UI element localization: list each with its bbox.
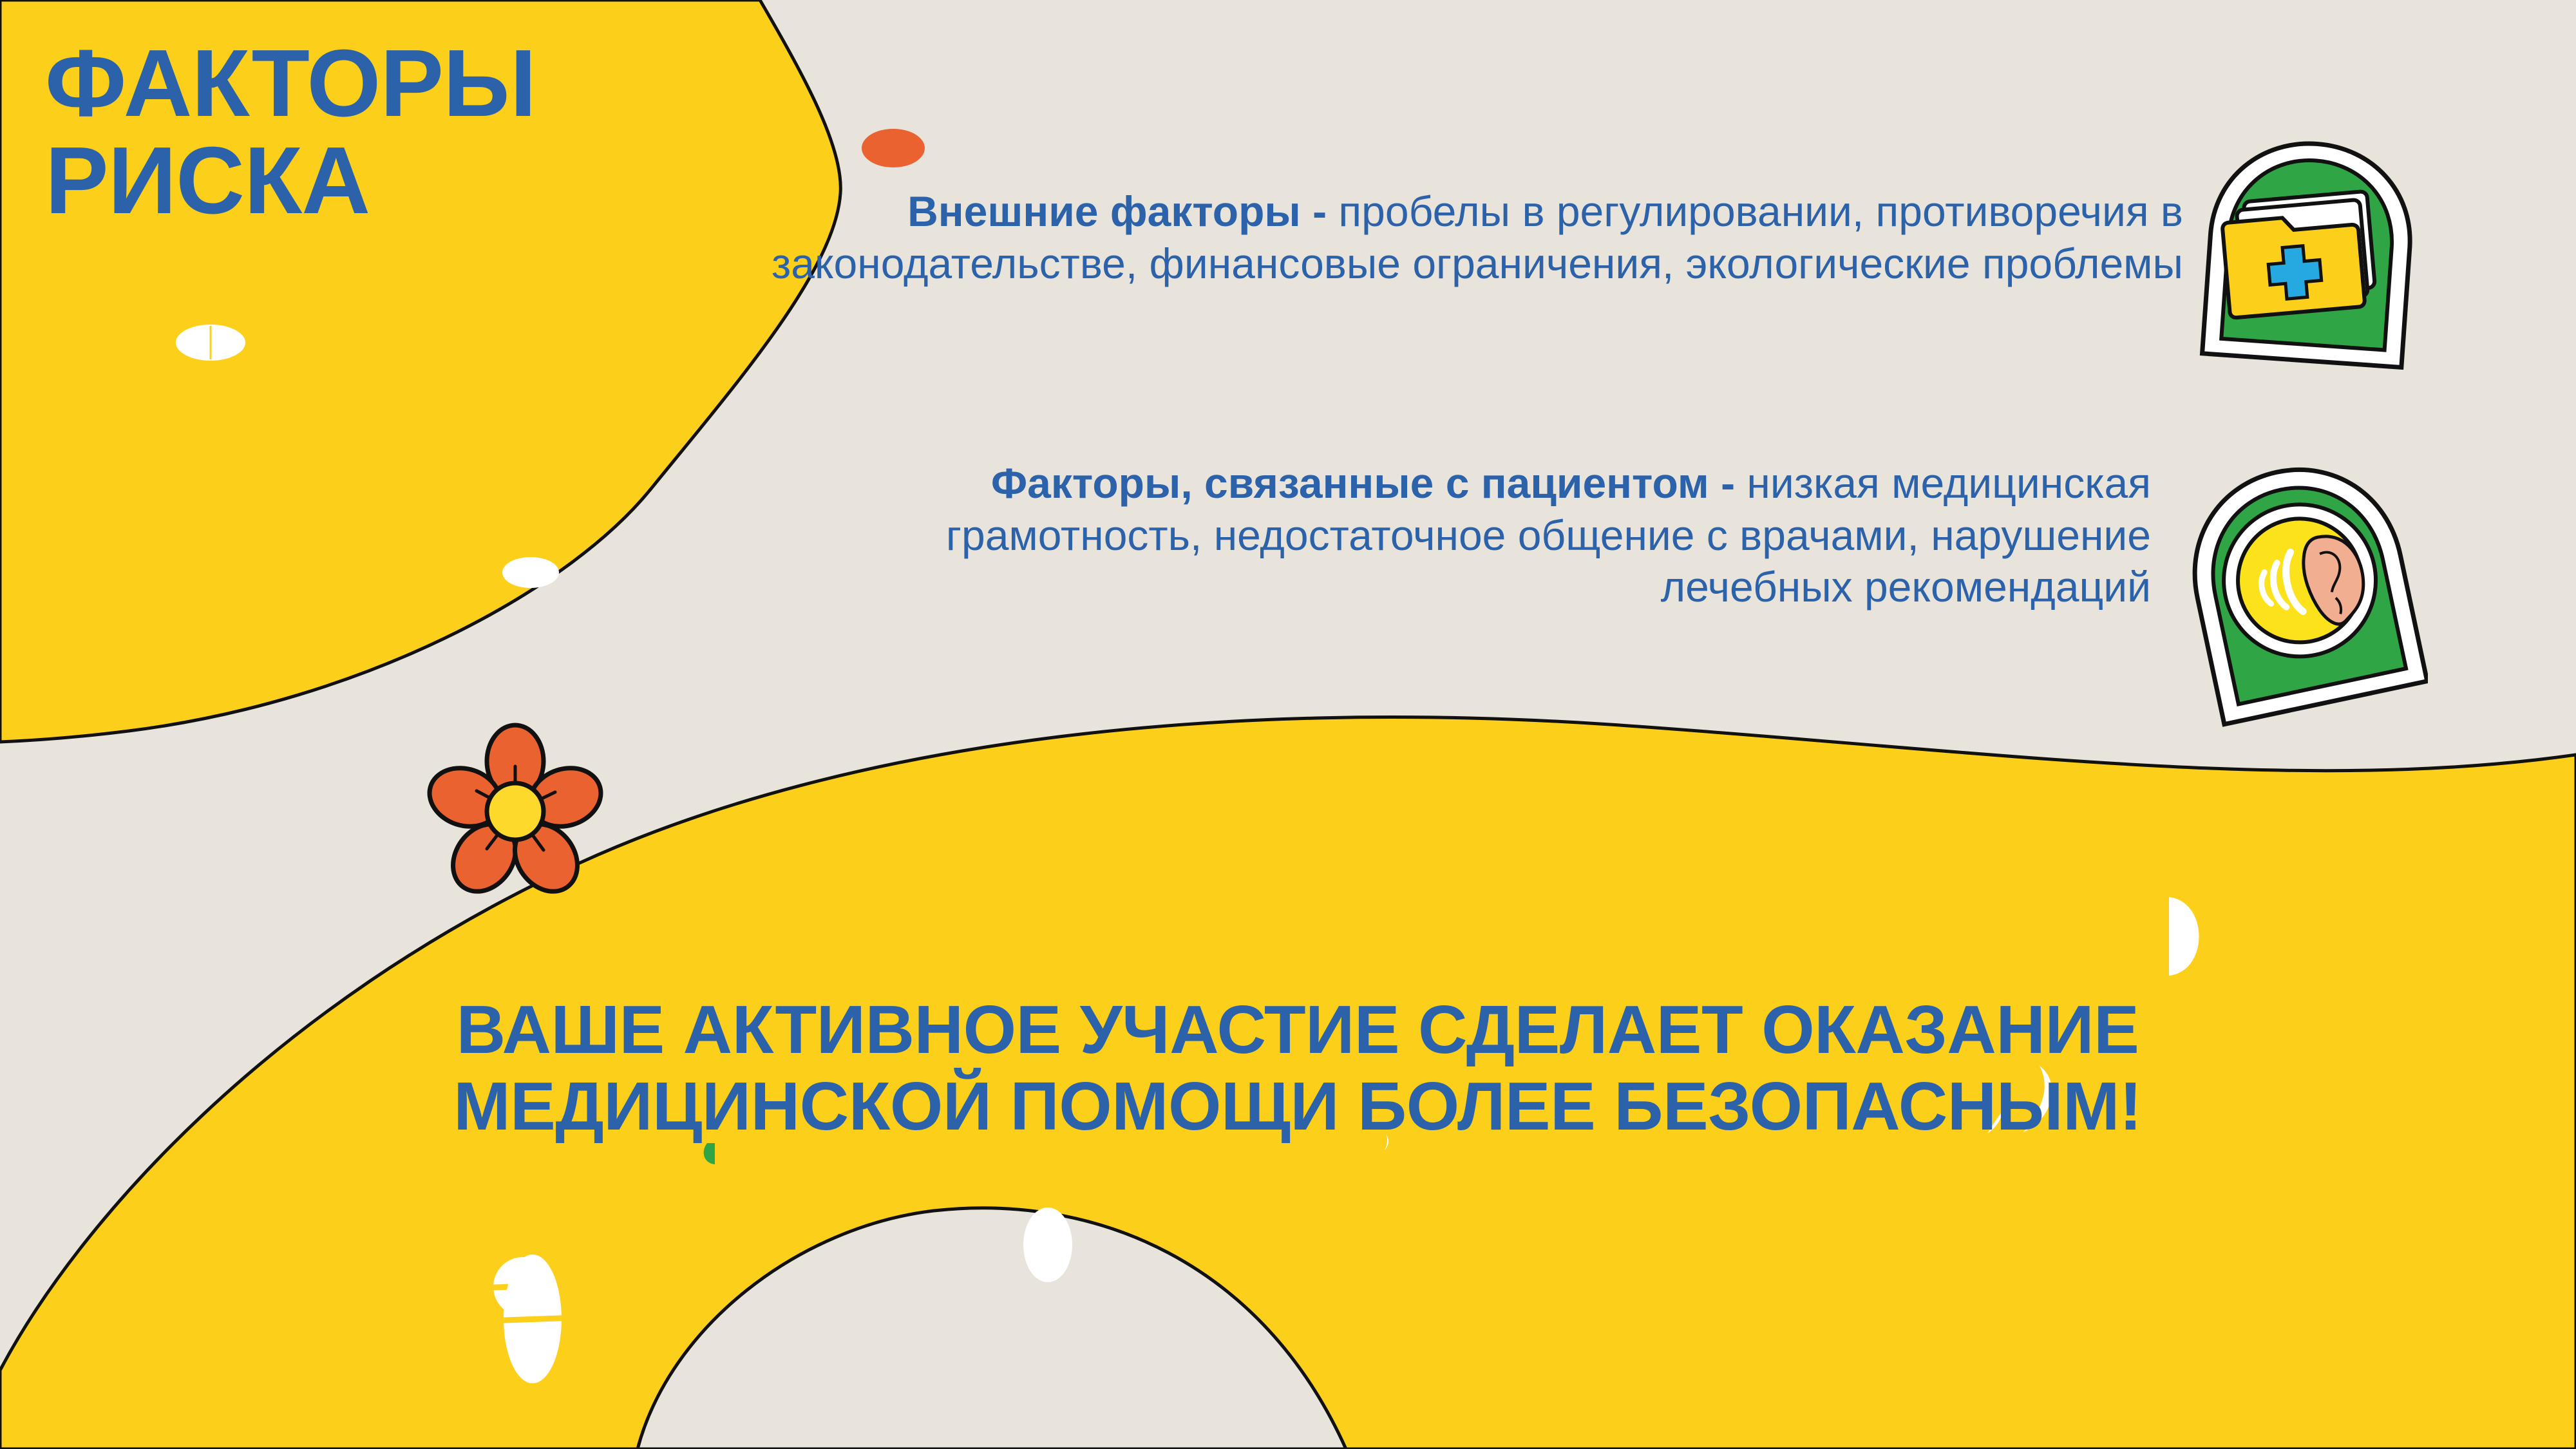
pill-oval-top-left xyxy=(176,325,245,361)
hearing-ear-pin-icon xyxy=(2177,454,2428,737)
ellipse-beige-area xyxy=(502,557,559,588)
slide-canvas: ФАКТОРЫ РИСКА Внешние факторы - пробелы … xyxy=(0,0,2576,1449)
bullet-text-external-factors: Внешние факторы - пробелы в регулировани… xyxy=(721,185,2183,289)
orange-bullet-dot xyxy=(862,129,925,167)
closing-headline: ВАШЕ АКТИВНОЕ УЧАСТИЕ СДЕЛАЕТ ОКАЗАНИЕ М… xyxy=(399,992,2196,1144)
flower-decoration xyxy=(425,721,605,902)
bullet-lead-external: Внешние факторы - xyxy=(907,187,1327,235)
bullet-lead-patient: Факторы, связанные с пациентом - xyxy=(991,459,1735,507)
headline-line-1: ВАШЕ АКТИВНОЕ УЧАСТИЕ СДЕЛАЕТ ОКАЗАНИЕ xyxy=(399,992,2196,1068)
medical-records-pin-icon xyxy=(2190,132,2428,390)
bullet-text-patient-factors: Факторы, связанные с пациентом - низкая … xyxy=(773,457,2151,613)
headline-line-2: МЕДИЦИНСКОЙ ПОМОЩИ БОЛЕЕ БЕЗОПАСНЫМ! xyxy=(399,1068,2196,1145)
ellipse-bottom-center xyxy=(1023,1207,1072,1282)
